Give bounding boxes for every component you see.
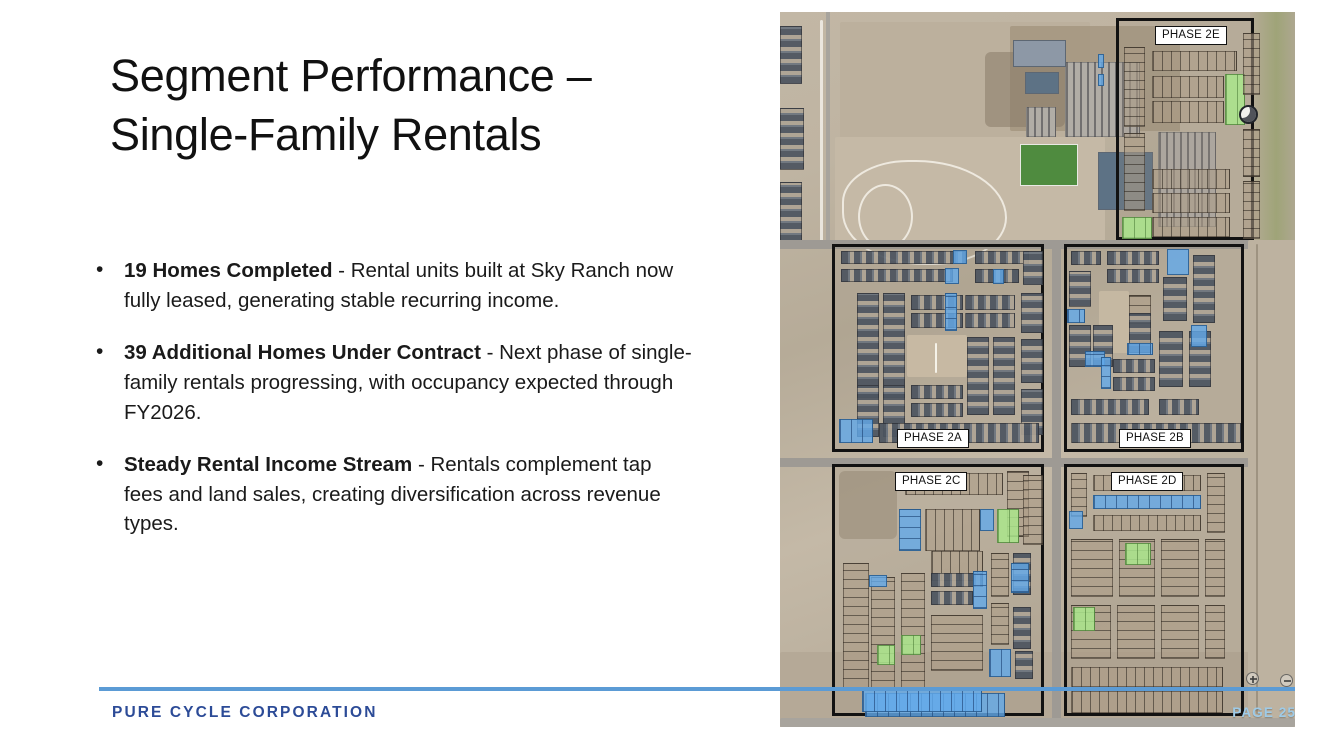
lot-row bbox=[1243, 33, 1260, 95]
highlight-parcel-blue bbox=[862, 688, 982, 712]
highlight-parcel-green bbox=[1122, 217, 1152, 239]
slide-canvas: Segment Performance – Single-Family Rent… bbox=[0, 0, 1333, 749]
bullet-marker-icon: • bbox=[96, 449, 103, 480]
rooftop-row bbox=[965, 313, 1015, 328]
rooftop-row bbox=[1013, 607, 1031, 649]
building bbox=[1025, 72, 1059, 94]
rooftop-row bbox=[911, 403, 963, 417]
rooftop-row bbox=[780, 182, 802, 242]
highlight-parcel-blue bbox=[953, 250, 967, 264]
phase-label-2c: PHASE 2C bbox=[895, 472, 967, 491]
highlight-parcel-blue bbox=[993, 269, 1004, 284]
lot-row bbox=[1124, 47, 1145, 127]
highlight-parcel-green bbox=[1073, 607, 1095, 631]
sports-field bbox=[1020, 144, 1078, 186]
road bbox=[826, 12, 830, 240]
phase-label-2a: PHASE 2A bbox=[897, 429, 969, 448]
bullet-marker-icon: • bbox=[96, 255, 103, 286]
lot-row bbox=[1161, 539, 1199, 597]
bullet-lead: Steady Rental Income Stream bbox=[124, 453, 412, 476]
highlight-parcel-blue bbox=[1127, 343, 1153, 355]
lot-row bbox=[1152, 193, 1230, 213]
lot-row bbox=[1152, 76, 1224, 98]
highlight-parcel-green bbox=[1125, 543, 1151, 565]
rooftop-row bbox=[1113, 377, 1155, 391]
highlight-parcel-green bbox=[901, 635, 921, 655]
highlight-parcel-green bbox=[877, 645, 895, 665]
lot-row bbox=[1071, 691, 1223, 713]
lot-row bbox=[843, 563, 869, 689]
water-tank bbox=[1239, 105, 1258, 124]
phase-block-2b: PHASE 2B bbox=[1064, 244, 1244, 452]
rooftop-row bbox=[911, 385, 963, 399]
rooftop-row bbox=[857, 293, 879, 398]
rooftop-row bbox=[1015, 651, 1033, 679]
rooftop-row bbox=[1021, 293, 1043, 333]
rooftop-row bbox=[965, 295, 1015, 310]
page-number-label: PAGE 25 bbox=[1232, 705, 1296, 720]
highlight-parcel-blue bbox=[989, 649, 1011, 677]
rooftop-row bbox=[1159, 331, 1183, 387]
highlight-parcel-blue bbox=[1069, 511, 1083, 529]
phase-block-2d: PHASE 2D bbox=[1064, 464, 1244, 716]
bullet-separator: - bbox=[332, 259, 350, 282]
rooftop-row bbox=[975, 251, 1029, 264]
lot-row bbox=[901, 573, 925, 691]
rooftop-row bbox=[780, 26, 802, 84]
highlight-parcel-blue bbox=[839, 419, 873, 443]
lot-row bbox=[1071, 667, 1223, 687]
zoom-in-icon[interactable] bbox=[1246, 672, 1259, 685]
rooftop-row bbox=[1159, 399, 1199, 415]
zoom-out-icon[interactable] bbox=[1280, 674, 1293, 687]
lot-row bbox=[1124, 133, 1145, 211]
highlight-parcel-blue bbox=[980, 509, 994, 531]
lot-row bbox=[1093, 515, 1201, 531]
rooftop-row bbox=[1021, 339, 1043, 383]
highlight-parcel-blue bbox=[899, 509, 921, 551]
highlight-parcel-blue bbox=[1093, 495, 1201, 509]
lot-row bbox=[931, 615, 983, 671]
rooftop-row bbox=[967, 337, 989, 415]
lot-row bbox=[925, 509, 980, 551]
lot-row bbox=[1243, 129, 1260, 177]
page-title-line-1: Segment Performance – bbox=[110, 46, 720, 105]
bullet-separator: - bbox=[481, 341, 499, 364]
lot-row bbox=[1205, 539, 1225, 597]
phase-block-2c: PHASE 2C bbox=[832, 464, 1044, 716]
rooftop-row bbox=[1023, 251, 1043, 285]
lot-row bbox=[1161, 605, 1199, 659]
rooftop-row bbox=[1069, 271, 1091, 307]
lot-row bbox=[1205, 605, 1225, 659]
lot-row bbox=[1071, 539, 1113, 597]
lot-row bbox=[1207, 473, 1225, 533]
parking-lot bbox=[1026, 107, 1056, 137]
building bbox=[1013, 40, 1066, 67]
phase-label-2d: PHASE 2D bbox=[1111, 472, 1183, 491]
highlight-parcel-blue bbox=[973, 571, 987, 609]
rooftop-row bbox=[1113, 359, 1155, 373]
park-path bbox=[935, 343, 937, 373]
lot-row bbox=[1152, 169, 1230, 189]
path-line bbox=[820, 20, 823, 245]
rooftop-row bbox=[841, 251, 966, 264]
park-open-space bbox=[907, 335, 967, 377]
lot-row bbox=[1152, 217, 1230, 237]
rooftop-row bbox=[780, 108, 804, 170]
highlight-parcel-blue bbox=[1098, 74, 1104, 86]
lot-row bbox=[991, 603, 1009, 645]
lot-row bbox=[1152, 51, 1237, 71]
list-item: • Steady Rental Income Stream - Rentals … bbox=[92, 450, 692, 540]
lot-row bbox=[1023, 475, 1043, 545]
rooftop-row bbox=[1071, 251, 1101, 265]
highlight-parcel-blue bbox=[1098, 54, 1104, 68]
highlight-parcel-blue bbox=[1067, 309, 1085, 323]
highlight-parcel-blue bbox=[869, 575, 887, 587]
phase-block-2e: PHASE 2E bbox=[1116, 18, 1254, 240]
highlight-parcel-blue bbox=[1011, 563, 1029, 593]
highlight-parcel-green bbox=[997, 509, 1019, 543]
roadway bbox=[780, 718, 1295, 727]
phase-label-2b: PHASE 2B bbox=[1119, 429, 1191, 448]
phase-block-2a: PHASE 2A bbox=[832, 244, 1044, 452]
field-boundary bbox=[1256, 244, 1258, 714]
land-patch bbox=[839, 471, 897, 539]
bullet-list: • 19 Homes Completed - Rental units buil… bbox=[92, 256, 692, 561]
lot-row bbox=[991, 553, 1009, 597]
highlight-parcel-blue bbox=[1191, 325, 1207, 347]
footer-brand-label: PURE CYCLE CORPORATION bbox=[112, 704, 378, 722]
list-item: • 19 Homes Completed - Rental units buil… bbox=[92, 256, 692, 316]
lot-row bbox=[1152, 101, 1224, 123]
rooftop-row bbox=[883, 293, 905, 398]
rooftop-row bbox=[1107, 251, 1159, 265]
aerial-site-plan-image: PHASE 2E bbox=[780, 12, 1295, 727]
highlight-parcel-blue bbox=[945, 293, 957, 331]
road bbox=[1052, 240, 1061, 727]
list-item: • 39 Additional Homes Under Contract - N… bbox=[92, 338, 692, 428]
phase-label-2e: PHASE 2E bbox=[1155, 26, 1227, 45]
footer-divider bbox=[99, 687, 1295, 691]
rooftop-row bbox=[1193, 255, 1215, 323]
bullet-separator: - bbox=[412, 453, 430, 476]
highlight-parcel-blue bbox=[945, 268, 959, 284]
highlight-parcel-blue bbox=[1101, 357, 1111, 389]
rooftop-row bbox=[993, 337, 1015, 415]
lot-row bbox=[1117, 605, 1155, 659]
rooftop-row bbox=[1071, 399, 1149, 415]
page-title: Segment Performance – Single-Family Rent… bbox=[110, 46, 720, 165]
bullet-marker-icon: • bbox=[96, 337, 103, 368]
lot-row bbox=[871, 577, 895, 691]
bullet-lead: 19 Homes Completed bbox=[124, 259, 332, 282]
rooftop-row bbox=[1107, 269, 1159, 283]
lot-row bbox=[1243, 181, 1260, 239]
page-title-line-2: Single-Family Rentals bbox=[110, 105, 720, 164]
rooftop-row bbox=[1163, 277, 1187, 321]
bullet-lead: 39 Additional Homes Under Contract bbox=[124, 341, 481, 364]
rooftop-row bbox=[931, 591, 973, 605]
rooftop-row bbox=[841, 269, 953, 282]
highlight-parcel-blue bbox=[1167, 249, 1189, 275]
